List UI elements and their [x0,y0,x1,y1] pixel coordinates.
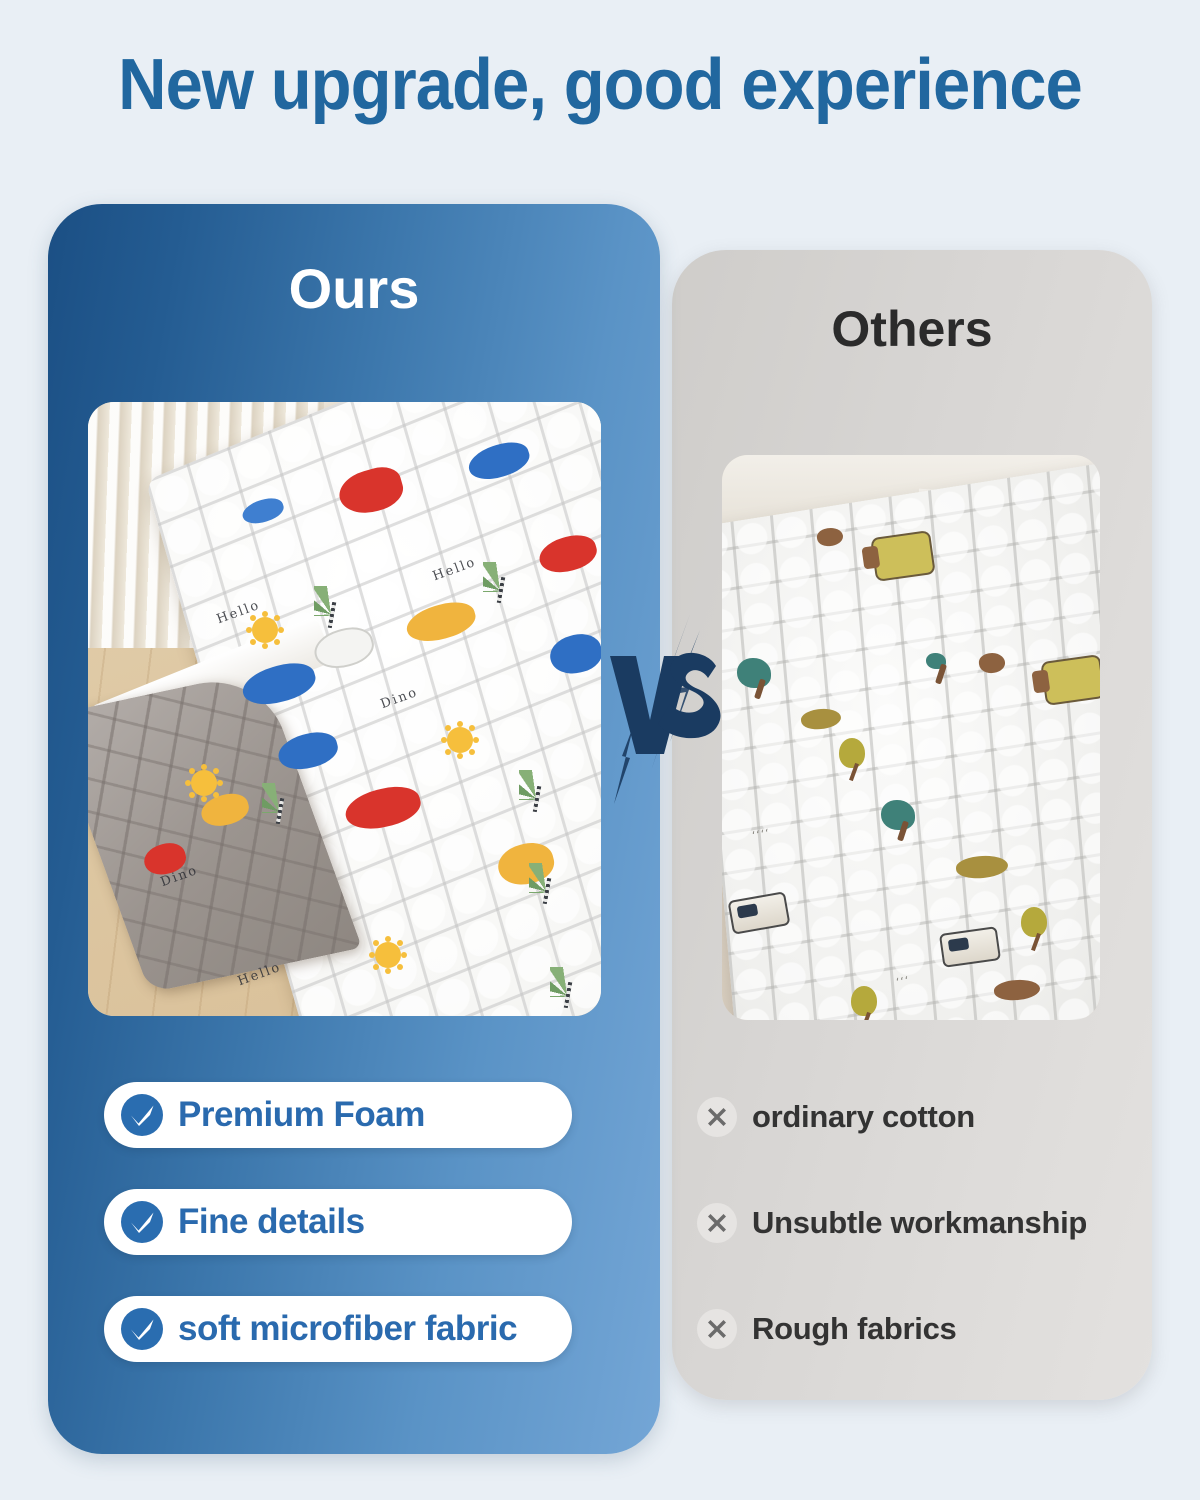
tree-icon-1 [737,658,771,688]
drawback-label: ordinary cotton [752,1099,975,1135]
palm-icon-6 [550,967,584,997]
feature-label: Fine details [178,1202,365,1242]
ours-feature-list: Premium Foam Fine details [104,1082,624,1362]
comparison-stage: Ours [0,0,1200,1500]
check-circle-icon [120,1200,164,1244]
drawback-label: Rough fabrics [752,1311,957,1347]
feature-label: Premium Foam [178,1095,425,1135]
palm-icon-5 [262,783,296,813]
others-product-photo: ʻʻʻʻ ʻʻʻ [722,455,1100,1020]
feature-label: soft microfiber fabric [178,1309,517,1349]
x-circle-icon [696,1096,738,1138]
palm-icon-3 [519,770,553,800]
palm-icon-4 [529,863,563,893]
ours-photo-scene: Hello Hello Dino Dino Hello [88,402,601,1016]
ours-card: Ours [48,204,660,1454]
drawback-row-rough-fabrics[interactable]: Rough fabrics [696,1302,1136,1356]
ours-heading: Ours [48,256,660,321]
others-drawback-list: ordinary cotton Unsubtle workmanship [696,1090,1136,1356]
drawback-label: Unsubtle workmanship [752,1205,1087,1241]
tree-icon-3 [926,653,946,669]
sun-icon-1 [252,617,278,643]
drawback-row-ordinary-cotton[interactable]: ordinary cotton [696,1090,1136,1144]
mat-scribble-2: ʻʻʻ [895,974,911,989]
feature-pill-soft-microfiber-fabric[interactable]: soft microfiber fabric [104,1296,572,1362]
check-circle-icon [120,1093,164,1137]
others-photo-scene: ʻʻʻʻ ʻʻʻ [722,455,1100,1020]
balloon-icon-2 [1021,907,1047,937]
bus-icon-1 [870,530,936,582]
drawback-row-unsubtle-workmanship[interactable]: Unsubtle workmanship [696,1196,1136,1250]
balloon-icon-1 [839,738,865,768]
balloon-icon-3 [851,986,877,1016]
palm-icon-1 [314,586,348,616]
x-circle-icon [696,1202,738,1244]
ours-product-photo: Hello Hello Dino Dino Hello [88,402,601,1016]
sun-icon-2 [191,770,217,796]
palm-icon-2 [483,562,517,592]
others-card: Others [672,250,1152,1400]
others-heading: Others [672,300,1152,358]
bus-icon-2 [1041,654,1100,706]
tree-icon-2 [881,800,915,830]
feature-pill-premium-foam[interactable]: Premium Foam [104,1082,572,1148]
check-circle-icon [120,1307,164,1351]
feature-pill-fine-details[interactable]: Fine details [104,1189,572,1255]
x-circle-icon [696,1308,738,1350]
